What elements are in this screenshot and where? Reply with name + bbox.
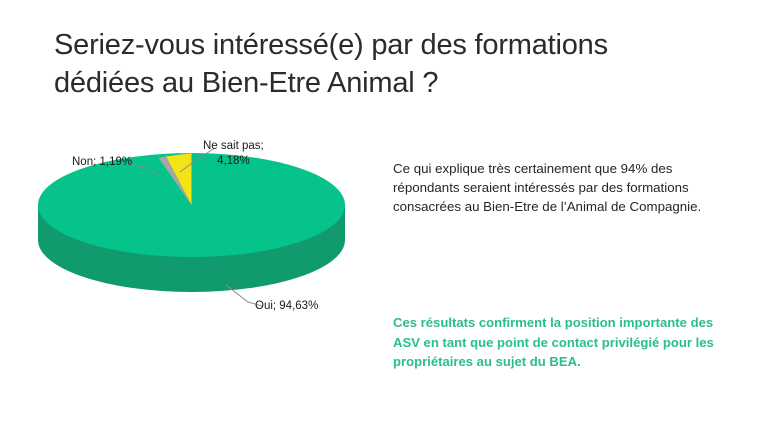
explanation-paragraph: Ce qui explique très certainement que 94… <box>393 159 723 216</box>
pie-label-non: Non; 1,19% <box>72 155 132 170</box>
slide-canvas: Seriez-vous intéressé(e) par des formati… <box>0 0 768 432</box>
conclusion-paragraph: Ces résultats confirment la position imp… <box>393 313 725 372</box>
page-title: Seriez-vous intéressé(e) par des formati… <box>54 26 704 103</box>
pie-label-oui: Oui; 94,63% <box>255 299 318 314</box>
pie-chart-graphic <box>0 120 390 330</box>
pie-chart <box>0 120 390 330</box>
pie-label-ne-sait-pas: Ne sait pas; 4,18% <box>203 139 264 168</box>
